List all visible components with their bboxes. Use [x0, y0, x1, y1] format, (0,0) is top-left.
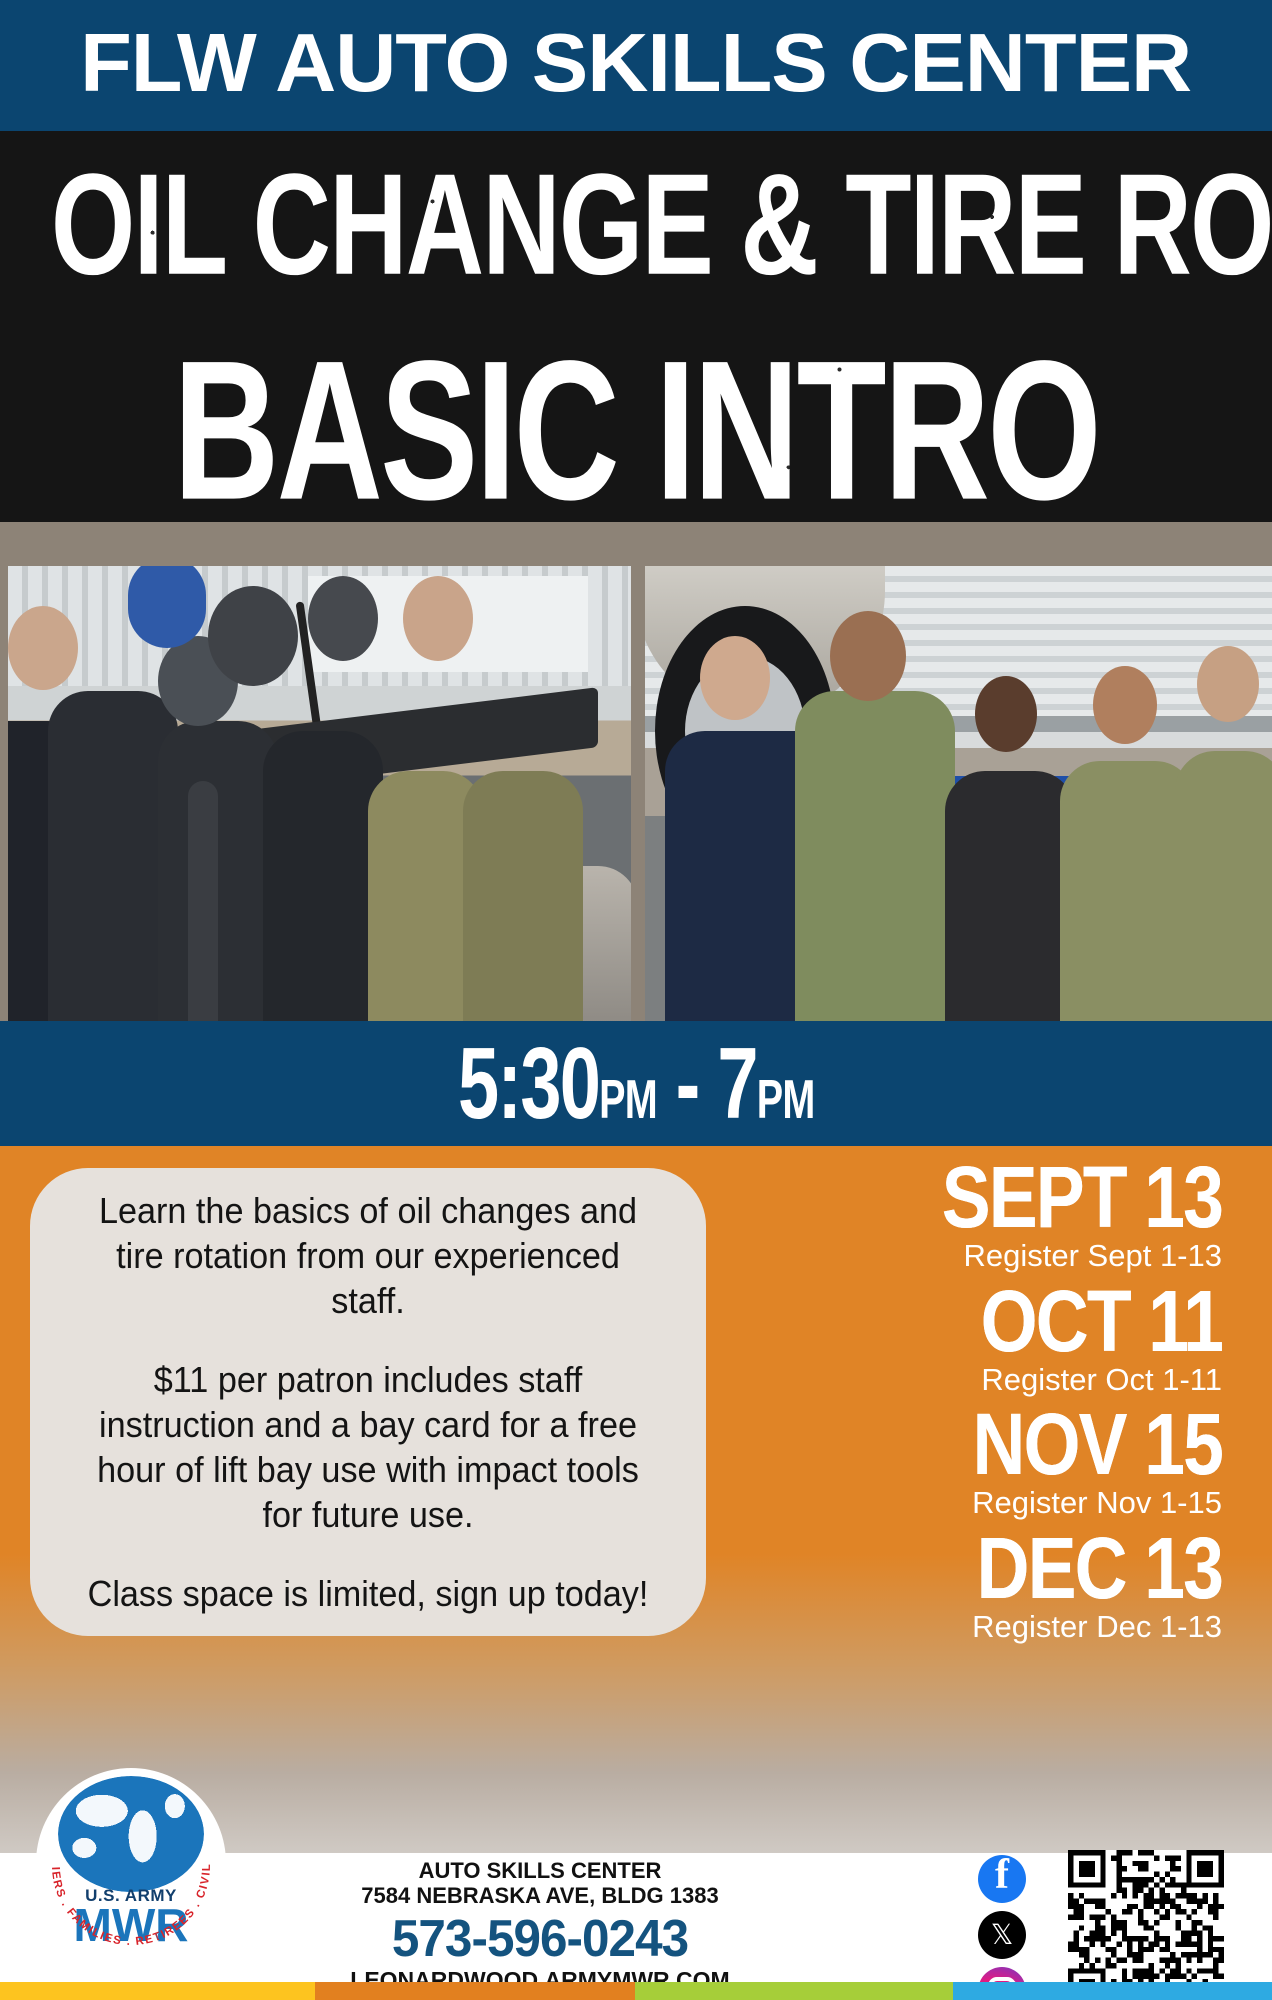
page-title: FLW AUTO SKILLS CENTER — [80, 21, 1191, 110]
session-date-item[interactable]: NOV 15 Register Nov 1-15 — [700, 1407, 1246, 1523]
end-time-suffix: PM — [757, 1068, 815, 1129]
footer-address: 7584 NEBRASKA AVE, BLDG 1383 — [330, 1883, 750, 1908]
bottom-color-bar — [0, 1982, 1272, 2000]
session-date: NOV 15 — [731, 1403, 1222, 1487]
description-paragraph-3: Class space is limited, sign up today! — [83, 1571, 653, 1616]
qr-code[interactable] — [1068, 1850, 1224, 2000]
facebook-icon[interactable] — [978, 1855, 1026, 1903]
mwr-logo: U.S. ARMY MWR SOLDIERS . FAMILIES . RETI… — [36, 1768, 226, 1958]
title-block: OIL CHANGE & TIRE ROTATION BASIC INTRO — [0, 131, 1272, 522]
description-paragraph-2: $11 per patron includes staff instructio… — [83, 1357, 653, 1537]
footer-contact-block: AUTO SKILLS CENTER 7584 NEBRASKA AVE, BL… — [330, 1858, 750, 1994]
session-date-item[interactable]: OCT 11 Register Oct 1-11 — [700, 1284, 1246, 1400]
class-time: 5:30PM - 7PM — [458, 1033, 814, 1134]
photo-strip — [0, 566, 1272, 1021]
description-text: Learn the basics of oil changes and tire… — [83, 1188, 653, 1616]
time-banner: 5:30PM - 7PM — [0, 1021, 1272, 1146]
social-links — [978, 1855, 1034, 2000]
session-date-item[interactable]: SEPT 13 Register Sept 1-13 — [700, 1160, 1246, 1276]
end-time: 7 — [717, 1027, 756, 1140]
session-date: DEC 13 — [731, 1526, 1222, 1610]
registered-mark: ® — [156, 1931, 163, 1941]
color-segment-yellow — [0, 1982, 315, 2000]
logo-tagline-arc: SOLDIERS . FAMILIES . RETIREES . CIVILIA… — [36, 1768, 226, 1958]
header-band: FLW AUTO SKILLS CENTER — [0, 0, 1272, 131]
footer-facility-name: AUTO SKILLS CENTER — [330, 1858, 750, 1883]
color-segment-green — [635, 1982, 953, 2000]
session-date-item[interactable]: DEC 13 Register Dec 1-13 — [700, 1531, 1246, 1647]
start-time: 5:30 — [458, 1027, 599, 1140]
description-box: Learn the basics of oil changes and tire… — [30, 1168, 706, 1636]
color-segment-blue — [953, 1982, 1272, 2000]
session-date: OCT 11 — [731, 1279, 1222, 1363]
start-time-suffix: PM — [599, 1068, 657, 1129]
event-title-line2: BASIC INTRO — [32, 331, 1240, 522]
description-paragraph-1: Learn the basics of oil changes and tire… — [83, 1188, 653, 1323]
photo-tire-demo — [645, 566, 1272, 1021]
photo-engine-bay — [8, 566, 631, 1021]
session-date: SEPT 13 — [731, 1156, 1222, 1240]
time-separator: - — [657, 1027, 718, 1140]
poster: FLW AUTO SKILLS CENTER OIL CHANGE & TIRE… — [0, 0, 1272, 2000]
footer-phone[interactable]: 573-596-0243 — [341, 1912, 740, 1967]
session-dates-list: SEPT 13 Register Sept 1-13 OCT 11 Regist… — [700, 1160, 1246, 1655]
x-twitter-icon[interactable] — [978, 1911, 1026, 1959]
event-title-line1: OIL CHANGE & TIRE ROTATION — [51, 153, 1221, 297]
gray-divider-band — [0, 522, 1272, 566]
svg-text:SOLDIERS . FAMILIES . RETIREES: SOLDIERS . FAMILIES . RETIREES . CIVILIA… — [36, 1768, 213, 1948]
color-segment-orange — [315, 1982, 635, 2000]
